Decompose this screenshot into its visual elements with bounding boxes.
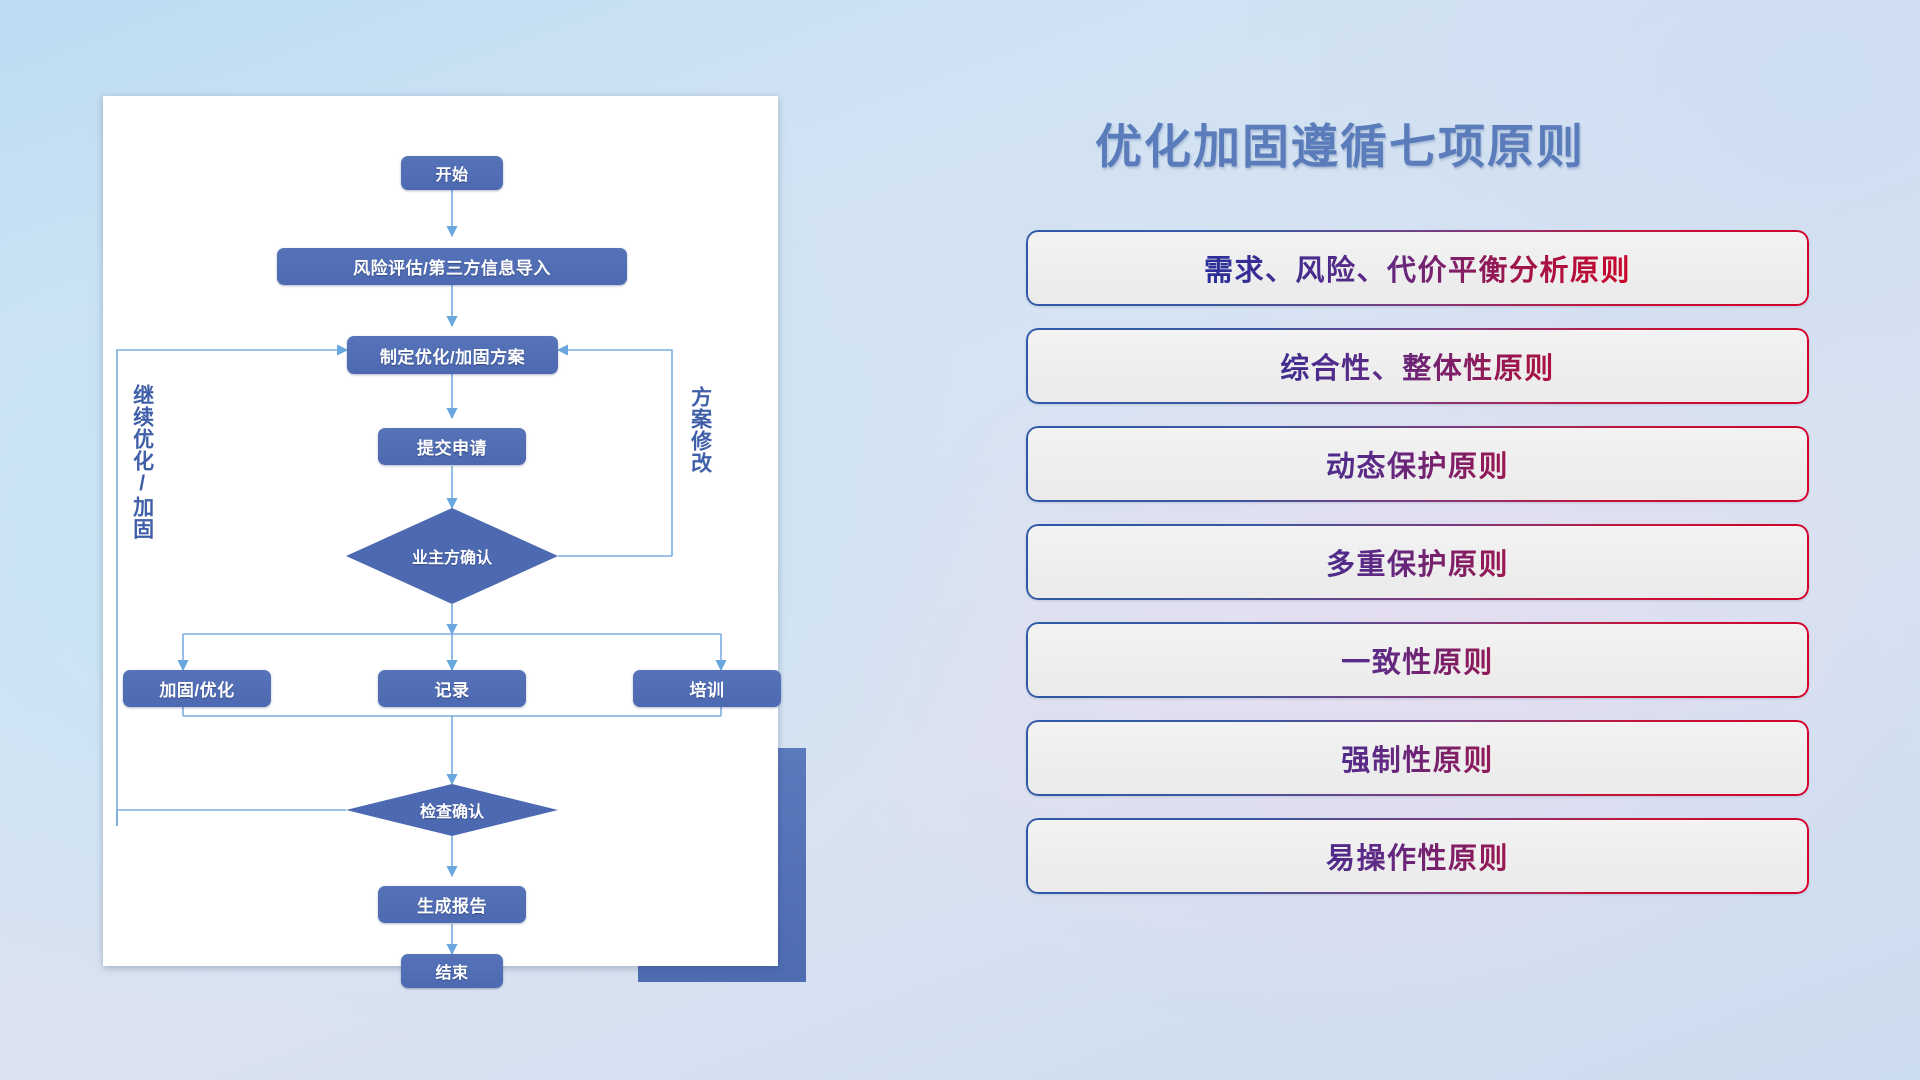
node-reinforce-optimize-label: 加固/优化 (159, 676, 234, 701)
node-risk-assessment-label: 风险评估/第三方信息导入 (353, 254, 551, 279)
node-submit-application[interactable]: 提交申请 (378, 428, 526, 465)
principle-card-5[interactable]: 一致性原则 (1026, 622, 1809, 698)
node-record[interactable]: 记录 (378, 670, 526, 707)
node-end-label: 结束 (435, 959, 468, 983)
node-end[interactable]: 结束 (401, 954, 503, 988)
decision-owner-confirm-label: 业主方确认 (346, 508, 558, 604)
principle-card-7-label: 易操作性原则 (1026, 818, 1809, 894)
principle-card-6-label: 强制性原则 (1026, 720, 1809, 796)
principles-list: 需求、风险、代价平衡分析原则 综合性、整体性原则 动态保护原则 多重保护原则 一… (1026, 230, 1809, 916)
principle-card-4-label: 多重保护原则 (1026, 524, 1809, 600)
node-make-plan-label: 制定优化/加固方案 (380, 343, 525, 368)
principle-card-6[interactable]: 强制性原则 (1026, 720, 1809, 796)
node-make-plan[interactable]: 制定优化/加固方案 (347, 336, 558, 374)
decision-check-confirm-label: 检查确认 (346, 784, 558, 836)
node-submit-application-label: 提交申请 (417, 434, 487, 459)
principle-card-3[interactable]: 动态保护原则 (1026, 426, 1809, 502)
slide-canvas: 开始 风险评估/第三方信息导入 制定优化/加固方案 提交申请 业主方确认 加固/… (0, 0, 1920, 1080)
principle-card-2[interactable]: 综合性、整体性原则 (1026, 328, 1809, 404)
node-risk-assessment[interactable]: 风险评估/第三方信息导入 (277, 248, 627, 285)
principle-card-1-label: 需求、风险、代价平衡分析原则 (1026, 230, 1809, 306)
edge-label-continue-optimize: 继续优化/加固 (131, 384, 153, 540)
node-reinforce-optimize[interactable]: 加固/优化 (123, 670, 271, 707)
decision-check-confirm[interactable]: 检查确认 (346, 784, 558, 836)
flowchart-panel: 开始 风险评估/第三方信息导入 制定优化/加固方案 提交申请 业主方确认 加固/… (103, 96, 778, 966)
flowchart: 开始 风险评估/第三方信息导入 制定优化/加固方案 提交申请 业主方确认 加固/… (103, 96, 778, 966)
edge-label-plan-revision: 方案修改 (689, 386, 711, 474)
node-start-label: 开始 (435, 161, 468, 185)
decision-owner-confirm[interactable]: 业主方确认 (346, 508, 558, 604)
principle-card-4[interactable]: 多重保护原则 (1026, 524, 1809, 600)
node-training[interactable]: 培训 (633, 670, 781, 707)
principle-card-3-label: 动态保护原则 (1026, 426, 1809, 502)
principle-card-1[interactable]: 需求、风险、代价平衡分析原则 (1026, 230, 1809, 306)
principle-card-5-label: 一致性原则 (1026, 622, 1809, 698)
node-training-label: 培训 (690, 676, 725, 701)
page-title: 优化加固遵循七项原则 (1020, 108, 1660, 177)
node-start[interactable]: 开始 (401, 156, 503, 190)
principle-card-2-label: 综合性、整体性原则 (1026, 328, 1809, 404)
principle-card-7[interactable]: 易操作性原则 (1026, 818, 1809, 894)
node-generate-report[interactable]: 生成报告 (378, 886, 526, 923)
node-generate-report-label: 生成报告 (417, 892, 487, 917)
node-record-label: 记录 (435, 676, 470, 701)
